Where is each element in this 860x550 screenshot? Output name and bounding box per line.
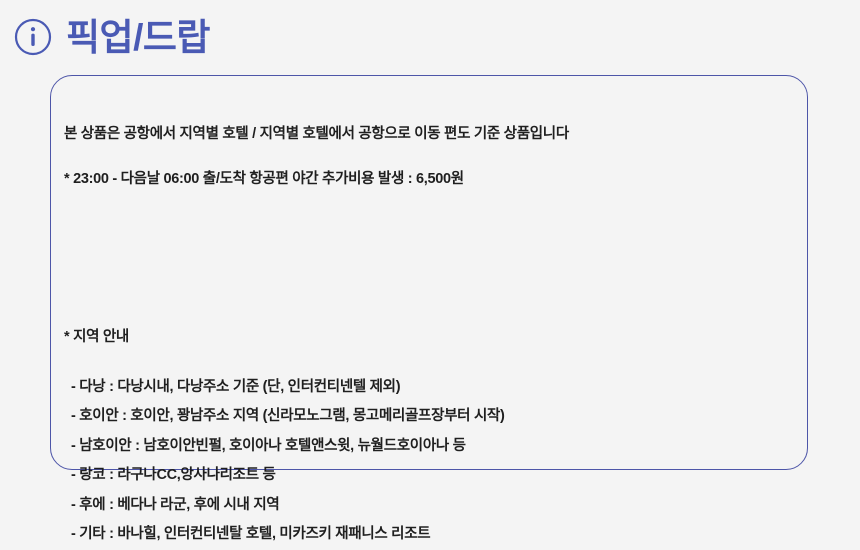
info-card: 본 상품은 공항에서 지역별 호텔 / 지역별 호텔에서 공항으로 이동 편도 …: [50, 75, 808, 470]
notice-line-surcharge: * 23:00 - 다음날 06:00 출/도착 항공편 야간 추가비용 발생 …: [64, 164, 787, 195]
list-item: - 남호이안 : 남호이안빈펄, 호이아나 호텔앤스윗, 뉴월드호이아나 등: [64, 432, 787, 462]
card-body: 본 상품은 공항에서 지역별 호텔 / 지역별 호텔에서 공항으로 이동 편도 …: [51, 119, 807, 550]
section-header: 픽업/드랍: [14, 10, 210, 64]
info-circle-icon: [14, 18, 52, 56]
list-item: - 다낭 : 다낭시내, 다낭주소 기준 (단, 인터컨티넨텔 제외): [64, 373, 787, 403]
region-guide-list: - 다낭 : 다낭시내, 다낭주소 기준 (단, 인터컨티넨텔 제외) - 호이…: [64, 367, 787, 550]
page-title: 픽업/드랍: [66, 19, 210, 56]
region-guide-heading: * 지역 안내: [64, 322, 787, 352]
pickup-dropoff-info-page: 픽업/드랍 본 상품은 공항에서 지역별 호텔 / 지역별 호텔에서 공항으로 …: [0, 0, 860, 495]
list-item: - 기타 : 바나힐, 인터컨티넨탈 호텔, 미카즈키 재패니스 리조트: [64, 520, 787, 550]
list-item: - 랑코 : 라구나CC,앙사나리조트 등: [64, 461, 787, 491]
content-spacer: [64, 210, 787, 308]
list-item: - 호이안 : 호이안, 꽝남주소 지역 (신라모노그램, 몽고메리골프장부터 …: [64, 402, 787, 432]
notice-line-primary: 본 상품은 공항에서 지역별 호텔 / 지역별 호텔에서 공항으로 이동 편도 …: [64, 119, 787, 150]
